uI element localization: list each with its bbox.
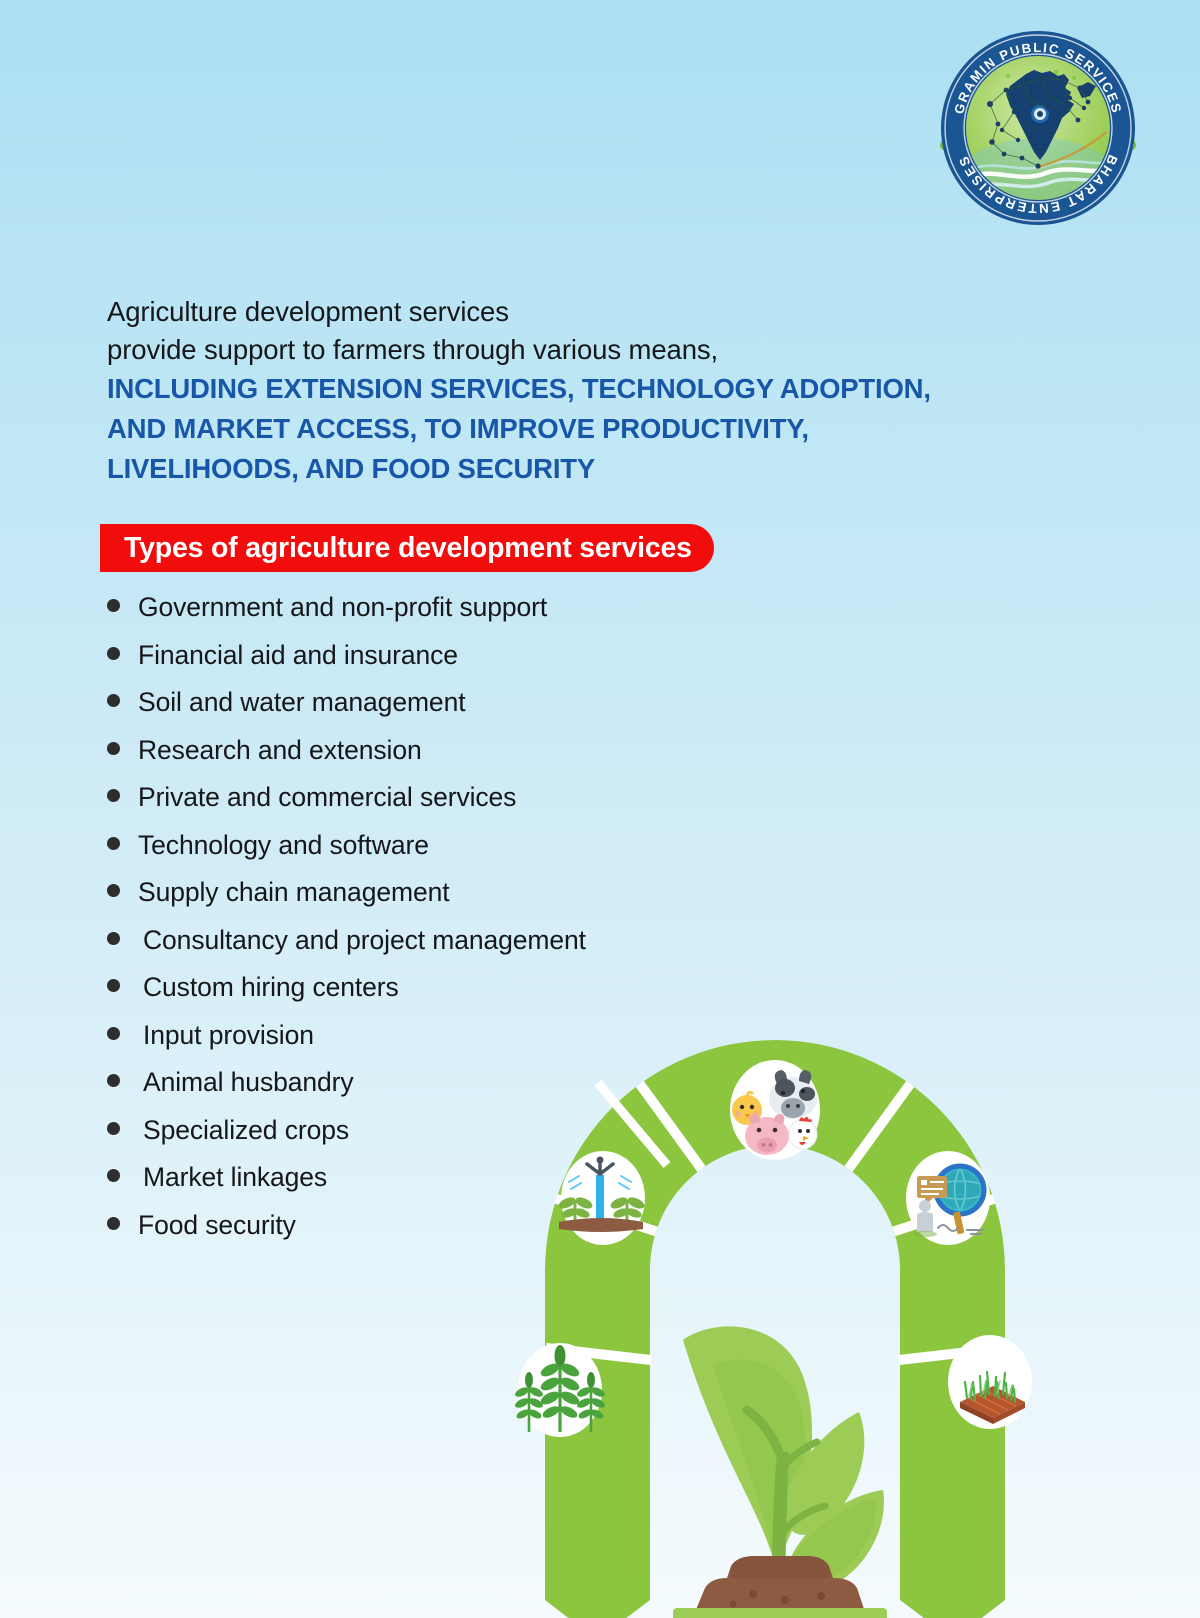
- list-item: Animal husbandry: [107, 1067, 867, 1115]
- heading-line-1: Agriculture development services: [107, 293, 1117, 331]
- list-item: Research and extension: [107, 735, 867, 783]
- list-item-label: Financial aid and insurance: [138, 640, 458, 670]
- list-item-label: Specialized crops: [143, 1115, 349, 1145]
- list-item: Financial aid and insurance: [107, 640, 867, 688]
- bullet-dot-icon: [107, 979, 120, 992]
- list-item-label: Input provision: [143, 1020, 314, 1050]
- list-item-label: Private and commercial services: [138, 782, 516, 812]
- bullet-dot-icon: [107, 789, 120, 802]
- list-item-label: Consultancy and project management: [143, 925, 586, 955]
- bullet-dot-icon: [107, 1027, 120, 1040]
- list-item: Food security: [107, 1210, 867, 1258]
- center-plant-illustration: [673, 1326, 887, 1618]
- list-item-label: Supply chain management: [138, 877, 449, 907]
- bullet-dot-icon: [107, 932, 120, 945]
- services-list: Government and non-profit support Financ…: [107, 592, 867, 1257]
- list-item: Soil and water management: [107, 687, 867, 735]
- bullet-dot-icon: [107, 1169, 120, 1182]
- bullet-dot-icon: [107, 1217, 120, 1230]
- heading-line-5: LIVELIHOODS, AND FOOD SECURITY: [107, 449, 1117, 489]
- bullet-dot-icon: [107, 1122, 120, 1135]
- bullet-dot-icon: [107, 647, 120, 660]
- research-magnifier-globe-icon: [906, 1151, 990, 1245]
- list-item: Technology and software: [107, 830, 867, 878]
- bullet-dot-icon: [107, 837, 120, 850]
- page-heading: Agriculture development services provide…: [107, 293, 1117, 489]
- pot-rim: [673, 1608, 887, 1618]
- list-item: Supply chain management: [107, 877, 867, 925]
- bullet-dot-icon: [107, 742, 120, 755]
- list-item: Consultancy and project management: [107, 925, 867, 973]
- section-banner-title: Types of agriculture development service…: [124, 532, 692, 565]
- bullet-dot-icon: [107, 1074, 120, 1087]
- heading-line-3: INCLUDING EXTENSION SERVICES, TECHNOLOGY…: [107, 369, 1117, 409]
- bullet-dot-icon: [107, 694, 120, 707]
- list-item-label: Custom hiring centers: [143, 972, 399, 1002]
- list-item: Government and non-profit support: [107, 592, 867, 640]
- bullet-dot-icon: [107, 884, 120, 897]
- list-item: Custom hiring centers: [107, 972, 867, 1020]
- list-item: Private and commercial services: [107, 782, 867, 830]
- section-banner: Types of agriculture development service…: [100, 524, 714, 572]
- list-item: Input provision: [107, 1020, 867, 1068]
- heading-line-4: AND MARKET ACCESS, TO IMPROVE PRODUCTIVI…: [107, 409, 1117, 449]
- list-item-label: Market linkages: [143, 1162, 327, 1192]
- bullet-dot-icon: [107, 599, 120, 612]
- list-item-label: Food security: [138, 1210, 296, 1240]
- list-item-label: Soil and water management: [138, 687, 465, 717]
- list-item: Specialized crops: [107, 1115, 867, 1163]
- list-item: Market linkages: [107, 1162, 867, 1210]
- crop-field-icon: [948, 1335, 1032, 1429]
- list-item-label: Animal husbandry: [143, 1067, 354, 1097]
- list-item-label: Government and non-profit support: [138, 592, 547, 622]
- company-logo: GRAMIN PUBLIC SERVICES BHARAT ENTERPRISE…: [938, 28, 1138, 228]
- list-item-label: Technology and software: [138, 830, 429, 860]
- heading-line-2: provide support to farmers through vario…: [107, 331, 1117, 369]
- list-item-label: Research and extension: [138, 735, 422, 765]
